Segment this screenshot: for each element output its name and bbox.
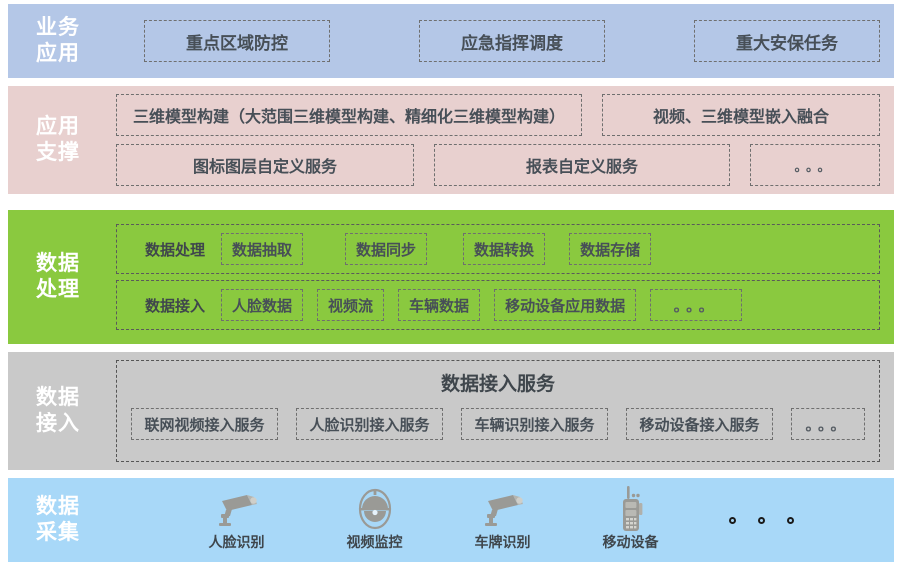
access-item-networked-video-service[interactable]: 联网视频接入服务 bbox=[131, 408, 278, 440]
processing-item-data-storage[interactable]: 数据存储 bbox=[569, 233, 651, 265]
data-access-group-title: 数据接入 bbox=[123, 295, 221, 316]
ellipsis-dot-icon bbox=[758, 517, 765, 524]
layer-label-line1: 业务 bbox=[36, 15, 80, 41]
support-item-icon-layer-custom-service[interactable]: 图标图层自定义服务 bbox=[116, 144, 414, 186]
layer-body-business-application: 重点区域防控 应急指挥调度 重大安保任务 bbox=[108, 4, 894, 78]
walkie-talkie-icon bbox=[615, 488, 647, 530]
layer-data-processing: 数据 处理 数据处理 数据抽取 数据同步 数据转换 数据存储 数据接入 人脸数据… bbox=[8, 210, 894, 344]
dome-camera-icon bbox=[355, 488, 395, 530]
layer-data-access: 数据 接入 数据接入服务 联网视频接入服务 人脸识别接入服务 车辆识别接入服务 … bbox=[8, 352, 894, 470]
application-support-row-1: 三维模型构建（大范围三维模型构建、精细化三维模型构建） 视频、三维模型嵌入融合 bbox=[116, 94, 880, 136]
layer-data-collection: 数据 采集 bbox=[8, 478, 894, 562]
layer-label-data-collection: 数据 采集 bbox=[8, 478, 108, 562]
layer-label-line2: 处理 bbox=[36, 277, 80, 303]
support-item-video-3d-fusion[interactable]: 视频、三维模型嵌入融合 bbox=[602, 94, 880, 136]
layer-body-data-access: 数据接入服务 联网视频接入服务 人脸识别接入服务 车辆识别接入服务 移动设备接入… bbox=[108, 352, 894, 470]
layer-business-application: 业务 应用 重点区域防控 应急指挥调度 重大安保任务 bbox=[8, 4, 894, 78]
layer-label-application-support: 应用 支撑 bbox=[8, 86, 108, 194]
layer-label-line1: 数据 bbox=[36, 251, 80, 277]
architecture-diagram: 业务 应用 重点区域防控 应急指挥调度 重大安保任务 应用 支撑 三维模型构建（… bbox=[0, 0, 902, 566]
layer-label-data-access: 数据 接入 bbox=[8, 352, 108, 470]
processing-item-data-sync[interactable]: 数据同步 bbox=[345, 233, 427, 265]
layer-label-line2: 支撑 bbox=[36, 140, 80, 166]
collection-item-label: 移动设备 bbox=[603, 532, 659, 552]
processing-item-face-data[interactable]: 人脸数据 bbox=[221, 289, 303, 321]
layer-label-line2: 接入 bbox=[36, 411, 80, 437]
business-item-key-area-control[interactable]: 重点区域防控 bbox=[144, 20, 330, 62]
bullet-camera-icon bbox=[214, 488, 260, 530]
data-access-service-title: 数据接入服务 bbox=[441, 369, 555, 396]
collection-item-label: 视频监控 bbox=[347, 532, 403, 552]
processing-item-data-extraction[interactable]: 数据抽取 bbox=[221, 233, 303, 265]
layer-label-line2: 应用 bbox=[36, 41, 80, 67]
data-access-service-items: 联网视频接入服务 人脸识别接入服务 车辆识别接入服务 移动设备接入服务 。。。 bbox=[117, 408, 879, 440]
collection-item-label: 人脸识别 bbox=[209, 532, 265, 552]
collection-item-license-plate-recognition[interactable]: 车牌识别 bbox=[475, 488, 531, 552]
data-access-service-group: 数据接入服务 联网视频接入服务 人脸识别接入服务 车辆识别接入服务 移动设备接入… bbox=[116, 360, 880, 462]
access-item-face-recognition-service[interactable]: 人脸识别接入服务 bbox=[296, 408, 443, 440]
layer-body-data-processing: 数据处理 数据抽取 数据同步 数据转换 数据存储 数据接入 人脸数据 视频流 车… bbox=[108, 210, 894, 344]
layer-label-line1: 数据 bbox=[36, 385, 80, 411]
application-support-row-2: 图标图层自定义服务 报表自定义服务 。。。 bbox=[116, 144, 880, 186]
collection-item-mobile-device[interactable]: 移动设备 bbox=[603, 488, 659, 552]
business-item-emergency-command[interactable]: 应急指挥调度 bbox=[419, 20, 605, 62]
ellipsis-dot-icon bbox=[787, 517, 794, 524]
processing-item-video-stream[interactable]: 视频流 bbox=[317, 289, 384, 321]
layer-label-business-application: 业务 应用 bbox=[8, 4, 108, 78]
layer-label-data-processing: 数据 处理 bbox=[8, 210, 108, 344]
collection-item-label: 车牌识别 bbox=[475, 532, 531, 552]
processing-item-more-ellipsis[interactable]: 。。。 bbox=[650, 289, 742, 321]
access-item-mobile-device-service[interactable]: 移动设备接入服务 bbox=[626, 408, 773, 440]
collection-item-video-surveillance[interactable]: 视频监控 bbox=[347, 488, 403, 552]
layer-label-line1: 应用 bbox=[36, 114, 80, 140]
collection-more-ellipsis[interactable] bbox=[729, 517, 794, 524]
layer-application-support: 应用 支撑 三维模型构建（大范围三维模型构建、精细化三维模型构建） 视频、三维模… bbox=[8, 86, 894, 194]
processing-item-mobile-app-data[interactable]: 移动设备应用数据 bbox=[494, 289, 636, 321]
layer-body-data-collection: 人脸识别 视频监控 bbox=[108, 478, 894, 562]
layer-label-line2: 采集 bbox=[36, 520, 80, 546]
processing-item-data-transform[interactable]: 数据转换 bbox=[463, 233, 545, 265]
layer-body-application-support: 三维模型构建（大范围三维模型构建、精细化三维模型构建） 视频、三维模型嵌入融合 … bbox=[108, 86, 894, 194]
ellipsis-dot-icon bbox=[729, 517, 736, 524]
support-item-report-custom-service[interactable]: 报表自定义服务 bbox=[434, 144, 730, 186]
data-processing-group: 数据处理 数据抽取 数据同步 数据转换 数据存储 bbox=[116, 224, 880, 274]
layer-label-line1: 数据 bbox=[36, 494, 80, 520]
collection-item-face-recognition[interactable]: 人脸识别 bbox=[209, 488, 265, 552]
access-item-more-ellipsis[interactable]: 。。。 bbox=[791, 408, 865, 440]
data-processing-group-title: 数据处理 bbox=[123, 239, 221, 260]
business-item-major-security-task[interactable]: 重大安保任务 bbox=[694, 20, 880, 62]
processing-item-vehicle-data[interactable]: 车辆数据 bbox=[398, 289, 480, 321]
data-access-group: 数据接入 人脸数据 视频流 车辆数据 移动设备应用数据 。。。 bbox=[116, 280, 880, 330]
access-item-vehicle-recognition-service[interactable]: 车辆识别接入服务 bbox=[461, 408, 608, 440]
support-item-more-ellipsis[interactable]: 。。。 bbox=[750, 144, 880, 186]
support-item-3d-model-construction[interactable]: 三维模型构建（大范围三维模型构建、精细化三维模型构建） bbox=[116, 94, 582, 136]
bullet-camera-icon bbox=[480, 488, 526, 530]
